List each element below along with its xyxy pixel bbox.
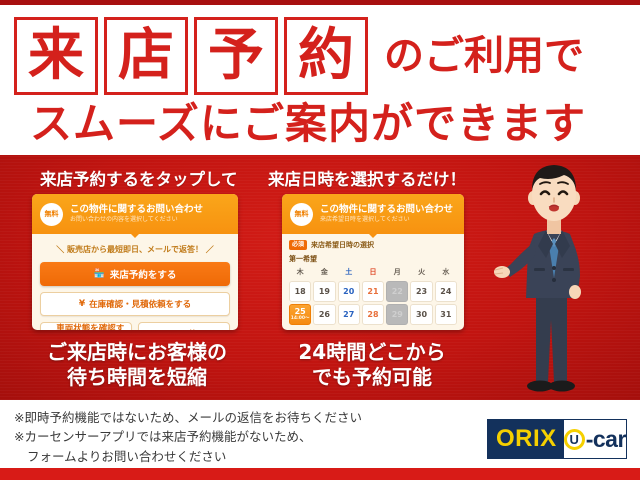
salesman-illustration xyxy=(490,150,618,400)
inquiry-card-subtitle: お問い合わせの内容を選択してください xyxy=(70,217,203,224)
kanji-box-4: 約 xyxy=(284,17,368,95)
calendar-day[interactable]: 18 xyxy=(289,281,311,302)
calendar-day[interactable]: 26 xyxy=(313,304,335,325)
weekday-header-tue: 火 xyxy=(410,267,432,279)
headline-line-1: 来 店 予 約 のご利用で xyxy=(14,17,584,95)
disclaimer-notes: ※即時予約機能ではないため、メールの返信をお待ちください ※カーセンサーアプリで… xyxy=(14,408,464,466)
calendar-day-number: 18 xyxy=(295,288,306,296)
right-column-caption: 24時間どこから でも予約可能 xyxy=(262,340,482,390)
calendar-day-number: 31 xyxy=(440,311,451,319)
calendar-card-title: この物件に関するお問い合わせ xyxy=(320,205,453,216)
weekday-header-sat: 土 xyxy=(338,267,360,279)
bottom-accent-bar xyxy=(0,468,640,480)
weekday-header-thu: 木 xyxy=(289,267,311,279)
calendar-day-number: 24 xyxy=(440,288,451,296)
weekday-header-mon: 月 xyxy=(386,267,408,279)
calendar-day[interactable]: 31 xyxy=(435,304,457,325)
right-column-heading: 来店日時を選択するだけ！ xyxy=(268,166,466,190)
calendar-card-header: 無料 この物件に関するお問い合わせ 来店希望日時を選択してください xyxy=(282,194,464,234)
left-column-caption: ご来店時にお客様の 待ち時間を短縮 xyxy=(22,340,252,390)
inquiry-card-header-text: この物件に関するお問い合わせ お問い合わせの内容を選択してください xyxy=(70,205,203,224)
calendar-day-time: 14:00〜 xyxy=(291,317,310,322)
calendar-day-number: 26 xyxy=(319,311,330,319)
left-caption-line-2: 待ち時間を短縮 xyxy=(22,365,252,390)
weekday-header-wed: 水 xyxy=(435,267,457,279)
calendar-day[interactable]: 28 xyxy=(362,304,384,325)
vehicle-condition-button-label: 車両状態を確認する xyxy=(56,322,131,330)
calendar-day-number: 29 xyxy=(392,311,403,319)
other-button[interactable]: その他 xyxy=(138,322,230,330)
calendar-day-number: 27 xyxy=(343,311,354,319)
calendar-day-number: 20 xyxy=(343,288,354,296)
calendar-day-selected[interactable]: 25 14:00〜 xyxy=(289,304,311,325)
calendar-day-number: 25 xyxy=(295,308,306,316)
headline-tail: のご利用で xyxy=(384,36,584,76)
calendar-day[interactable]: 19 xyxy=(313,281,335,302)
disclaimer-line-3: フォームよりお問い合わせください xyxy=(14,447,464,466)
reply-lead-text: ＼ 販売店から最短即日、メールで返答！ ／ xyxy=(40,244,230,255)
inquiry-card-title: この物件に関するお問い合わせ xyxy=(70,205,203,216)
free-badge: 無料 xyxy=(290,203,313,226)
vehicle-condition-button[interactable]: 🚗 車両状態を確認する xyxy=(40,322,132,330)
inquiry-card-header: 無料 この物件に関するお問い合わせ お問い合わせの内容を選択してください xyxy=(32,194,238,234)
calendar-grid: 木 金 土 日 月 火 水 18 19 20 21 22 23 24 25 14… xyxy=(289,267,457,325)
banner-root: 来 店 予 約 のご利用で スムーズにご案内ができます 来店予約するをタップして… xyxy=(0,0,640,480)
kanji-box-1: 来 xyxy=(14,17,98,95)
header: 来 店 予 約 のご利用で スムーズにご案内ができます xyxy=(0,5,640,155)
calendar-day-disabled: 29 xyxy=(386,304,408,325)
right-caption-line-2: でも予約可能 xyxy=(262,365,482,390)
calendar-section-label: 必須 来店希望日時の選択 xyxy=(289,240,457,250)
weekday-header-sun: 日 xyxy=(362,267,384,279)
ucar-wordmark: U -car xyxy=(564,420,626,458)
inquiry-card-body: ＼ 販売店から最短即日、メールで返答！ ／ 🏪 来店予約をする ¥ 在庫確認・見… xyxy=(32,234,238,330)
kanji-box-3: 予 xyxy=(194,17,278,95)
calendar-day-number: 22 xyxy=(392,288,403,296)
calendar-day[interactable]: 20 xyxy=(338,281,360,302)
calendar-day[interactable]: 24 xyxy=(435,281,457,302)
calendar-day-number: 30 xyxy=(416,311,427,319)
headline-line-2: スムーズにご案内ができます xyxy=(30,103,630,145)
left-caption-line-1: ご来店時にお客様の xyxy=(22,340,252,365)
orix-wordmark: ORIX xyxy=(488,427,564,451)
calendar-day-number: 21 xyxy=(367,288,378,296)
ucar-u-mark: U xyxy=(564,429,585,450)
calendar-card-body: 必須 来店希望日時の選択 第一希望 木 金 土 日 月 火 水 18 19 20… xyxy=(282,234,464,330)
reserve-visit-button[interactable]: 🏪 来店予約をする xyxy=(40,262,230,286)
calendar-day-number: 19 xyxy=(319,288,330,296)
other-button-label: その他 xyxy=(171,328,197,330)
reserve-visit-button-label: 来店予約をする xyxy=(110,267,177,281)
left-column-heading: 来店予約するをタップして xyxy=(40,166,238,190)
required-tag: 必須 xyxy=(289,240,307,249)
preference-label: 第一希望 xyxy=(289,254,457,264)
inquiry-card: 無料 この物件に関するお問い合わせ お問い合わせの内容を選択してください ＼ 販… xyxy=(32,194,238,330)
header-notch xyxy=(130,233,140,238)
car-icon: 🚗 xyxy=(41,330,52,331)
disclaimer-line-2: ※カーセンサーアプリでは来店予約機能がないため、 xyxy=(14,427,464,446)
calendar-card-header-text: この物件に関するお問い合わせ 来店希望日時を選択してください xyxy=(320,205,453,224)
disclaimer-line-1: ※即時予約機能ではないため、メールの返信をお待ちください xyxy=(14,408,464,427)
stock-quote-button[interactable]: ¥ 在庫確認・見積依頼をする xyxy=(40,292,230,316)
header-notch xyxy=(368,233,378,238)
section-label-text: 来店希望日時の選択 xyxy=(311,240,374,250)
calendar-day[interactable]: 30 xyxy=(410,304,432,325)
right-caption-line-1: 24時間どこから xyxy=(262,340,482,365)
calendar-day-number: 23 xyxy=(416,288,427,296)
secondary-button-row: 🚗 車両状態を確認する その他 xyxy=(40,322,230,330)
kanji-box-2: 店 xyxy=(104,17,188,95)
weekday-header-fri: 金 xyxy=(313,267,335,279)
calendar-day-disabled: 22 xyxy=(386,281,408,302)
calendar-card-subtitle: 来店希望日時を選択してください xyxy=(320,217,453,224)
calendar-card: 無料 この物件に関するお問い合わせ 来店希望日時を選択してください 必須 来店希… xyxy=(282,194,464,330)
calendar-day[interactable]: 27 xyxy=(338,304,360,325)
yen-icon: ¥ xyxy=(79,300,85,309)
ucar-text: -car xyxy=(586,428,626,451)
free-badge: 無料 xyxy=(40,203,63,226)
orix-ucar-logo: ORIX U -car xyxy=(487,419,627,459)
storefront-icon: 🏪 xyxy=(94,270,105,279)
stock-quote-button-label: 在庫確認・見積依頼をする xyxy=(89,298,191,310)
calendar-day[interactable]: 21 xyxy=(362,281,384,302)
calendar-day-number: 28 xyxy=(367,311,378,319)
calendar-day[interactable]: 23 xyxy=(410,281,432,302)
